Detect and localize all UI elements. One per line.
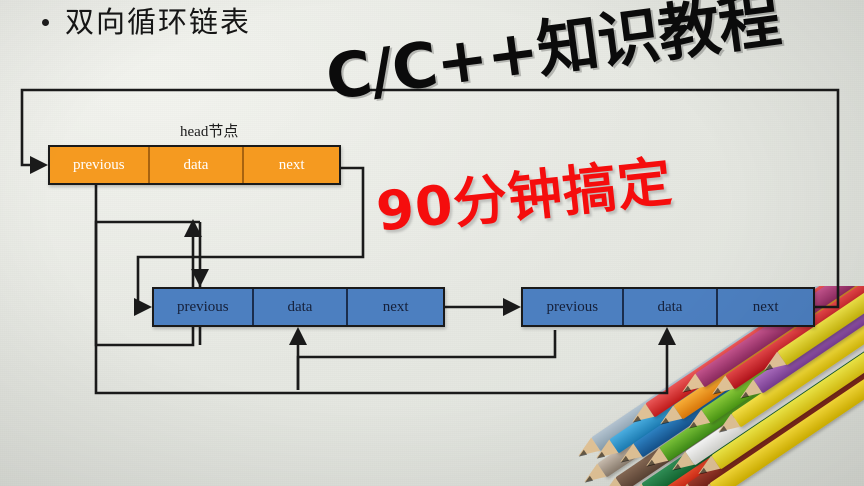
- slide-screenshot: 双向循环链表: [0, 0, 864, 486]
- head-node[interactable]: previous data next: [48, 145, 341, 185]
- head-node-next-cell[interactable]: next: [244, 147, 339, 183]
- node-3-previous-cell[interactable]: previous: [523, 289, 624, 325]
- route-node3-prev-to-node2-data: [298, 330, 555, 390]
- node-2-next-cell[interactable]: next: [348, 289, 443, 325]
- node-3-data-cell[interactable]: data: [624, 289, 719, 325]
- node-2-data-cell[interactable]: data: [254, 289, 349, 325]
- head-node-label: head节点: [180, 120, 238, 141]
- node-2-previous-cell[interactable]: previous: [154, 289, 254, 325]
- head-node-previous-cell[interactable]: previous: [50, 147, 150, 183]
- node-3-next-cell[interactable]: next: [718, 289, 813, 325]
- head-node-data-cell[interactable]: data: [150, 147, 245, 183]
- node-3[interactable]: previous data next: [521, 287, 815, 327]
- node-2[interactable]: previous data next: [152, 287, 445, 327]
